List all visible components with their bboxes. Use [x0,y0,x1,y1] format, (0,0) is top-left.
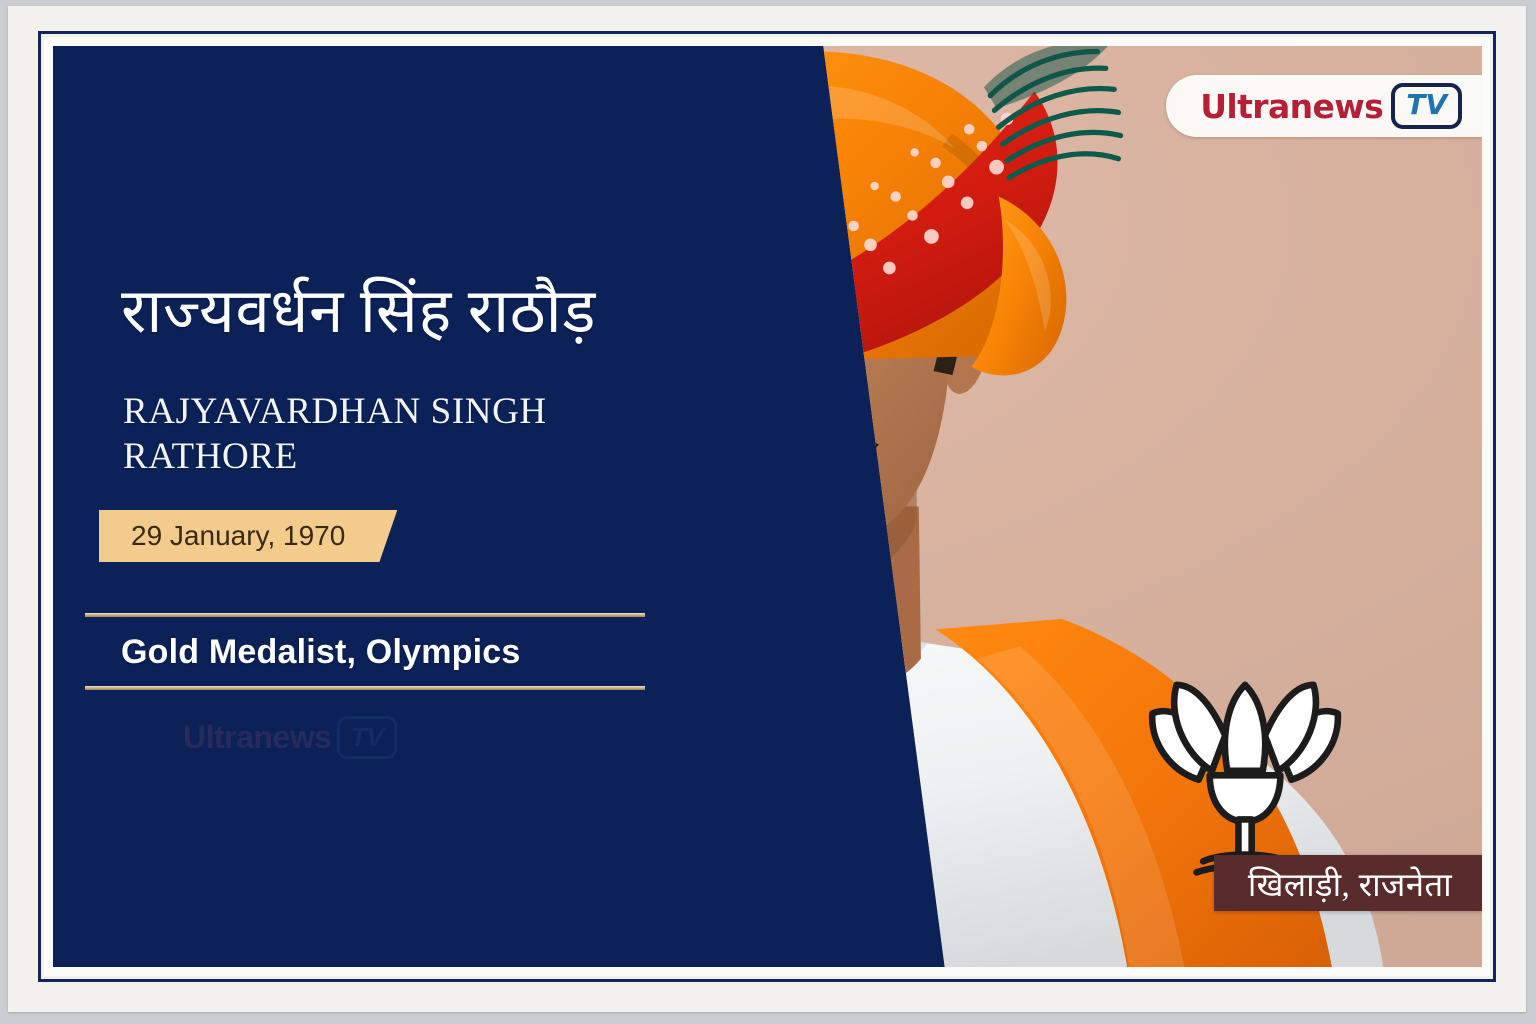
poster-content: Ultranews TV खिलाड़ी, राजनेता राज्यवर्धन… [53,46,1482,967]
poster-mat: Ultranews TV खिलाड़ी, राजनेता राज्यवर्धन… [8,6,1526,1012]
watermark-tv-badge: TV [337,716,396,759]
brand-logo[interactable]: Ultranews TV [1166,75,1482,137]
brand-logo-wordmark: Ultranews [1200,87,1383,126]
info-panel: राज्यवर्धन सिंह राठौड़ RAJYAVARDHAN SING… [53,46,810,967]
birth-date-badge: 29 January, 1970 [99,510,397,562]
achievement-block: Gold Medalist, Olympics [85,613,645,690]
achievement-label: Gold Medalist, Olympics [85,633,645,672]
name-hindi: राज्यवर्धन सिंह राठौड़ [121,278,596,346]
achievement-rule-top [85,613,645,617]
role-caption: खिलाड़ी, राजनेता [1214,855,1482,911]
watermark-wordmark: Ultranews [183,719,331,756]
role-caption-text: खिलाड़ी, राजनेता [1248,861,1452,906]
name-english: RAJYAVARDHAN SINGH RATHORE [123,389,643,479]
poster-card: Ultranews TV खिलाड़ी, राजनेता राज्यवर्धन… [0,0,1536,1024]
achievement-rule-bottom [85,686,645,690]
birth-date-text: 29 January, 1970 [131,520,345,552]
watermark: Ultranews TV [183,716,397,759]
brand-logo-tv-badge: TV [1391,83,1462,128]
